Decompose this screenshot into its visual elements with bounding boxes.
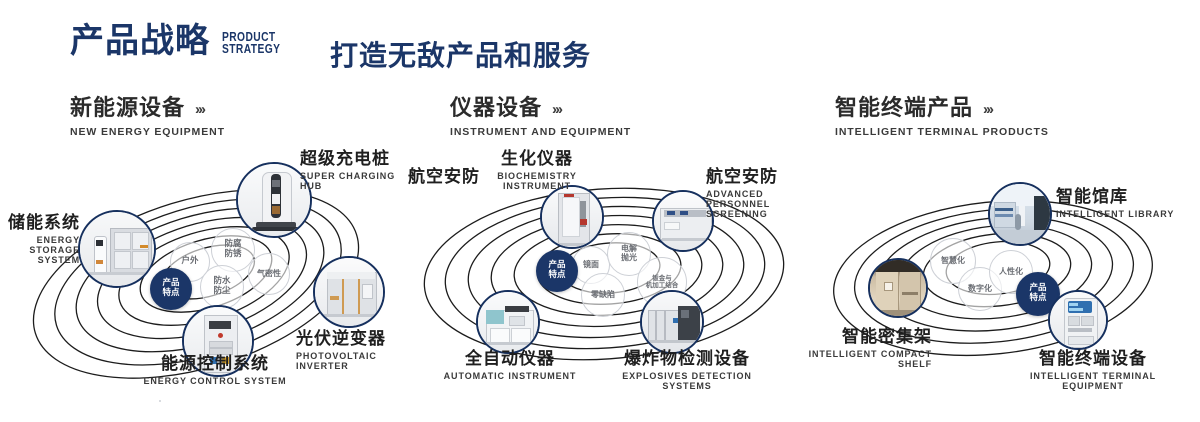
label-aviation-security-left: 航空安防 [408, 168, 480, 187]
feature-line1: 人性化 [999, 268, 1023, 277]
feature-line2: 抛光 [621, 254, 637, 263]
node-label-cn: 智能终端设备 [998, 350, 1188, 369]
node-label-en: ENERGY CONTROL SYSTEM [120, 376, 310, 386]
node-intelligent-library[interactable] [988, 182, 1052, 246]
label-intelligent-compact-shelf: 智能密集架 INTELLIGENT COMPACT SHELF [782, 328, 932, 369]
poster-canvas: 产品战略 PRODUCT STRATEGY 打造无敌产品和服务 新能源设备 ››… [0, 0, 1200, 422]
core-line2: 特点 [548, 271, 565, 281]
spacer [159, 400, 161, 402]
page-title-en-line1: PRODUCT [222, 31, 280, 44]
page-title: 产品战略 PRODUCT STRATEGY [70, 24, 293, 58]
feature-line1: 数字化 [968, 285, 992, 294]
section-title-en: INSTRUMENT AND EQUIPMENT [450, 126, 631, 138]
page-slogan: 打造无敌产品和服务 [330, 34, 591, 74]
node-intelligent-terminal-equipment[interactable] [1048, 290, 1108, 350]
label-intelligent-library: 智能馆库 INTELLIGENT LIBRARY [1056, 188, 1174, 219]
chevron-right-icon: ››› [983, 101, 992, 118]
node-label-en: AUTOMATIC INSTRUMENT [438, 371, 582, 381]
section-title-en: INTELLIGENT TERMINAL PRODUCTS [835, 126, 1049, 138]
feature-bubble-waterproof: 防水 防尘 [200, 265, 244, 309]
terminal-kiosk-photo [1050, 292, 1106, 348]
node-label-cn: 储能系统 [0, 214, 80, 233]
section-heading-new-energy: 新能源设备 ››› NEW ENERGY EQUIPMENT [70, 97, 225, 138]
chevron-right-icon: ››› [195, 101, 204, 118]
compact-shelf-photo [870, 260, 926, 316]
feature-line1: 零缺陷 [591, 291, 615, 300]
core-line2: 特点 [162, 289, 179, 299]
label-explosives-detection-systems: 爆炸物检测设备 EXPLOSIVES DETECTION SYSTEMS [596, 350, 778, 391]
node-label-cn: 生化仪器 [472, 150, 602, 169]
library-interior-photo [990, 184, 1050, 244]
core-line2: 特点 [1029, 294, 1046, 304]
biochemistry-instrument-photo [542, 187, 602, 247]
feature-line2: 防锈 [224, 250, 241, 260]
node-label-en: BIOCHEMISTRY INSTRUMENT [472, 171, 602, 191]
feature-bubble-airtight: 气密性 [248, 253, 290, 295]
section-heading-instrument: 仪器设备 ››› INSTRUMENT AND EQUIPMENT [450, 97, 631, 138]
battery-cabinet-photo [80, 212, 154, 286]
page-title-en-line2: STRATEGY [222, 43, 280, 56]
feature-bubble-zero-defect: 零缺陷 [581, 273, 625, 317]
section-title-en: NEW ENERGY EQUIPMENT [70, 126, 225, 138]
node-label-en: INTELLIGENT LIBRARY [1056, 209, 1174, 219]
feature-line1: 镜面 [583, 261, 599, 270]
node-intelligent-compact-shelf[interactable] [868, 258, 928, 318]
node-label-en: INTELLIGENT COMPACT SHELF [782, 349, 932, 369]
section-title-cn: 新能源设备 [70, 97, 185, 121]
node-label-cn: 能源控制系统 [120, 355, 310, 374]
automatic-instrument-photo [478, 292, 538, 352]
diagram-cluster-instrument: 镜面 电解 抛光 零缺陷 钣金与 机加工结合 产品 特点 航空安防 [400, 150, 820, 400]
node-label-en: ENERGY STORAGE SYSTEM [0, 235, 80, 265]
node-biochemistry-instrument[interactable] [540, 185, 604, 249]
node-explosives-detection-systems[interactable] [640, 290, 704, 354]
diagram-cluster-new-energy: 户外 防腐 防锈 防水 防尘 气密性 产品 特点 [0, 150, 420, 400]
feature-line1: 气密性 [257, 270, 281, 279]
label-biochemistry-instrument: 生化仪器 BIOCHEMISTRY INSTRUMENT [472, 150, 602, 191]
node-label-cn: 智能密集架 [782, 328, 932, 347]
node-advanced-personnel-screening[interactable] [652, 190, 714, 252]
label-energy-storage-system: 储能系统 ENERGY STORAGE SYSTEM [0, 214, 80, 265]
node-label-cn: 航空安防 [408, 168, 480, 187]
explosives-detector-photo [642, 292, 702, 352]
section-title-cn: 仪器设备 [450, 97, 542, 121]
section-title-cn: 智能终端产品 [835, 97, 973, 121]
feature-line2: 防尘 [213, 287, 230, 297]
feature-line1: 智慧化 [941, 257, 965, 266]
label-energy-control-system: 能源控制系统 ENERGY CONTROL SYSTEM [120, 355, 310, 386]
section-heading-intelligent-terminal: 智能终端产品 ››› INTELLIGENT TERMINAL PRODUCTS [835, 97, 1049, 138]
page-title-cn: 产品战略 [70, 24, 210, 58]
node-label-en: EXPLOSIVES DETECTION SYSTEMS [596, 371, 778, 391]
chevron-right-icon: ››› [552, 101, 561, 118]
node-automatic-instrument[interactable] [476, 290, 540, 354]
feature-line2: 机加工结合 [646, 282, 679, 289]
node-label-cn: 全自动仪器 [438, 350, 582, 369]
node-photovoltaic-inverter[interactable] [313, 256, 385, 328]
node-label-cn: 智能馆库 [1056, 188, 1174, 207]
diagram-cluster-intelligent-terminal: 智慧化 数字化 人性化 产品 特点 [800, 150, 1200, 400]
core-bubble-product-features: 产品 特点 [536, 250, 578, 292]
inverter-cabinet-photo [315, 258, 383, 326]
page-title-en: PRODUCT STRATEGY [222, 31, 280, 57]
core-bubble-product-features: 产品 特点 [150, 268, 192, 310]
feature-line1: 户外 [181, 257, 198, 267]
screening-machine-photo [654, 192, 712, 250]
node-label-en: INTELLIGENT TERMINAL EQUIPMENT [998, 371, 1188, 391]
node-label-cn: 爆炸物检测设备 [596, 350, 778, 369]
label-intelligent-terminal-equipment: 智能终端设备 INTELLIGENT TERMINAL EQUIPMENT [998, 350, 1188, 391]
label-automatic-instrument: 全自动仪器 AUTOMATIC INSTRUMENT [438, 350, 582, 381]
node-energy-storage-system[interactable] [78, 210, 156, 288]
